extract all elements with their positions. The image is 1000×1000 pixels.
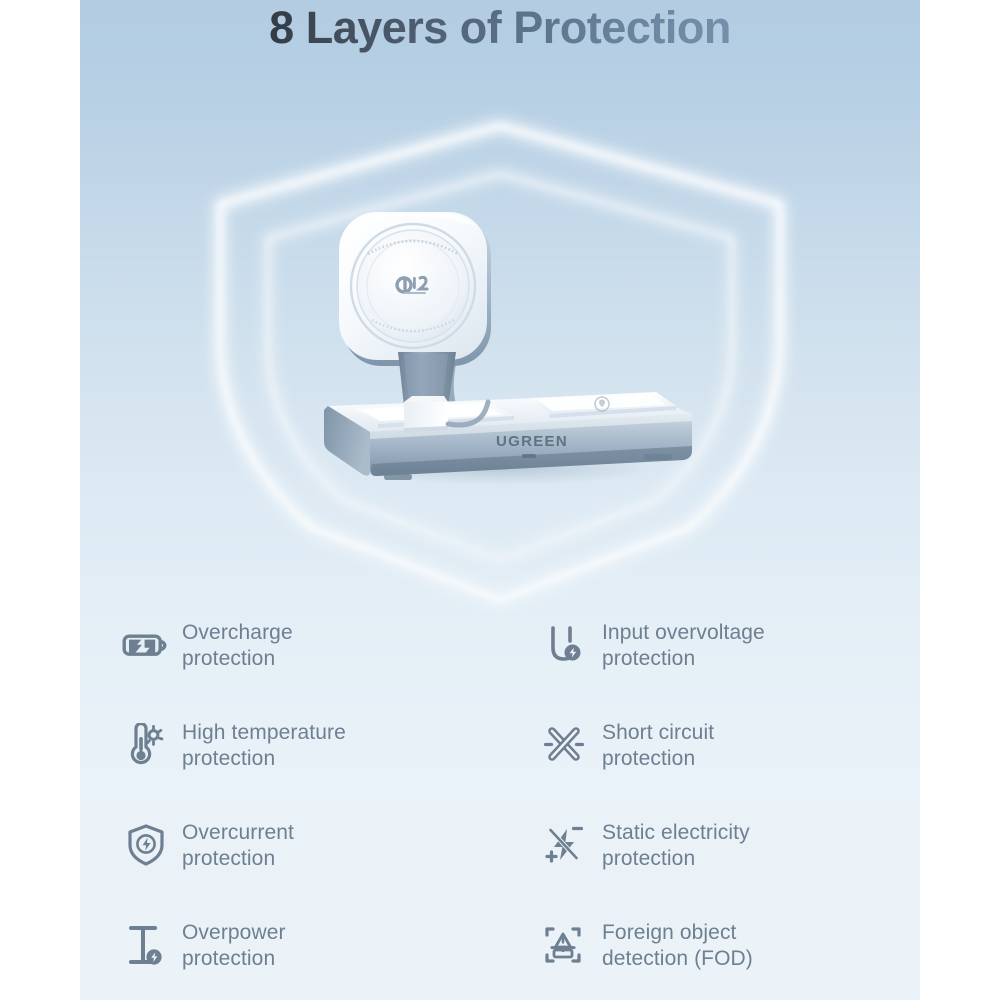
watch-connector [404, 396, 448, 432]
charging-station-illustration: UGREEN [292, 192, 712, 492]
product-image: UGREEN [292, 192, 712, 492]
scan-warning-icon [540, 912, 592, 972]
feature-label: Overpower protection [172, 912, 286, 971]
feature-input-overvoltage-protection: Input overvoltage protection [500, 612, 920, 712]
page-title: 8 Layers of Protection [80, 2, 920, 54]
feature-line-2: protection [182, 646, 293, 672]
feature-line-2: protection [602, 846, 750, 872]
feature-label: Short circuit protection [592, 712, 714, 771]
feature-line-1: Overpower [182, 920, 286, 946]
feature-line-2: detection (FOD) [602, 946, 753, 972]
feature-label: High temperature protection [172, 712, 346, 771]
infographic-canvas: 8 Layers of Protection [80, 0, 920, 1000]
feature-line-1: Overcharge [182, 620, 293, 646]
feature-short-circuit-protection: Short circuit protection [500, 712, 920, 812]
feature-line-2: protection [182, 846, 294, 872]
feature-line-1: Overcurrent [182, 820, 294, 846]
feature-overcurrent-protection: Overcurrent protection [80, 812, 500, 912]
crossed-cables-icon [540, 712, 592, 772]
feature-row: Overcharge protection Input overvoltage … [80, 612, 920, 712]
feature-line-2: protection [182, 746, 346, 772]
magsafe-puck [339, 212, 491, 366]
feature-line-2: protection [182, 946, 286, 972]
product-infographic-page: 8 Layers of Protection [0, 0, 1000, 1000]
feature-line-2: protection [602, 746, 714, 772]
feature-line-1: Static electricity [602, 820, 750, 846]
feature-label: Overcharge protection [172, 612, 293, 671]
feature-line-1: Foreign object [602, 920, 753, 946]
feature-line-1: Input overvoltage [602, 620, 765, 646]
feature-row: Overcurrent protection Static electricit… [80, 812, 920, 912]
status-led [522, 454, 536, 458]
feature-foreign-object-detection: Foreign object detection (FOD) [500, 912, 920, 1000]
feature-label: Overcurrent protection [172, 812, 294, 871]
feature-label: Input overvoltage protection [592, 612, 765, 671]
shield-bolt-icon [120, 812, 172, 872]
feature-row: High temperature protection Short circui… [80, 712, 920, 812]
battery-bolt-icon [120, 612, 172, 672]
feature-overpower-protection: Overpower protection [80, 912, 500, 1000]
feature-high-temperature-protection: High temperature protection [80, 712, 500, 812]
thermometer-sun-icon [120, 712, 172, 772]
feature-row: Overpower protection Foreign o [80, 912, 920, 1000]
feature-line-1: High temperature [182, 720, 346, 746]
feature-overcharge-protection: Overcharge protection [80, 612, 500, 712]
brand-wordmark: UGREEN [496, 433, 568, 450]
u-bolt-icon [540, 612, 592, 672]
static-bolt-icon [540, 812, 592, 872]
protection-features-grid: Overcharge protection Input overvoltage … [80, 612, 920, 1000]
feature-label: Static electricity protection [592, 812, 750, 871]
feature-static-electricity-protection: Static electricity protection [500, 812, 920, 912]
feature-line-2: protection [602, 646, 765, 672]
feature-label: Foreign object detection (FOD) [592, 912, 753, 971]
ibeam-bolt-icon [120, 912, 172, 972]
feature-line-1: Short circuit [602, 720, 714, 746]
